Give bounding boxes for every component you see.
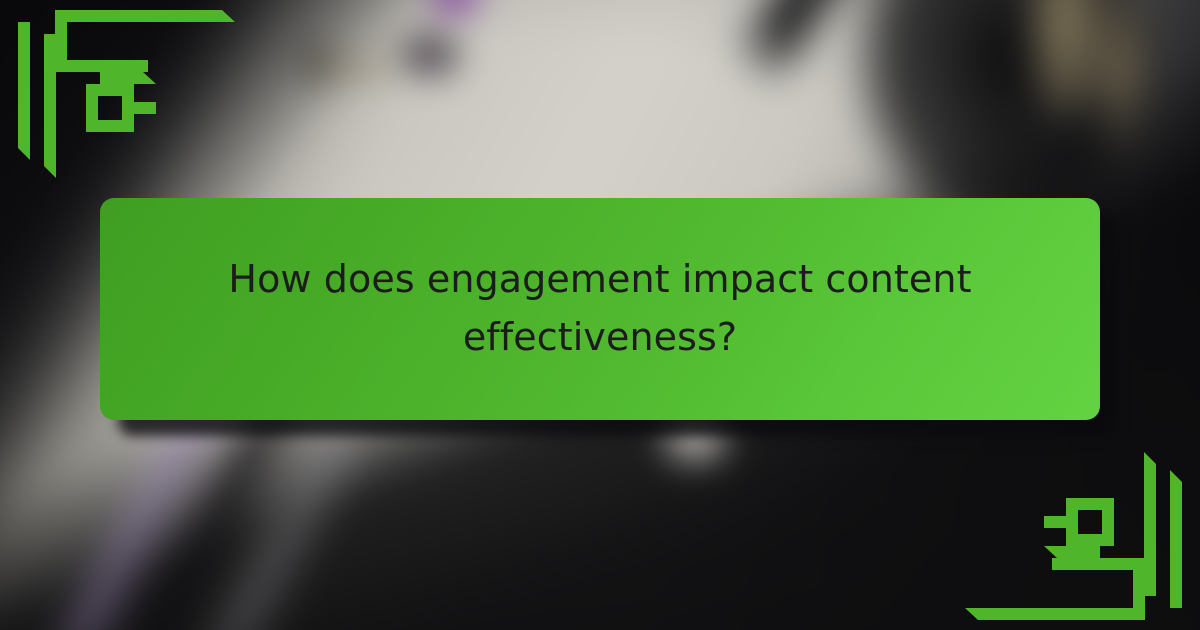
top-left-corner-ornament: [0, 0, 260, 200]
slide-canvas: How does engagement impact content effec…: [0, 0, 1200, 630]
headline-banner: How does engagement impact content effec…: [100, 198, 1100, 420]
banner-surface: How does engagement impact content effec…: [100, 198, 1100, 420]
bottom-right-corner-ornament: [940, 430, 1200, 630]
page-title: How does engagement impact content effec…: [190, 251, 1010, 367]
